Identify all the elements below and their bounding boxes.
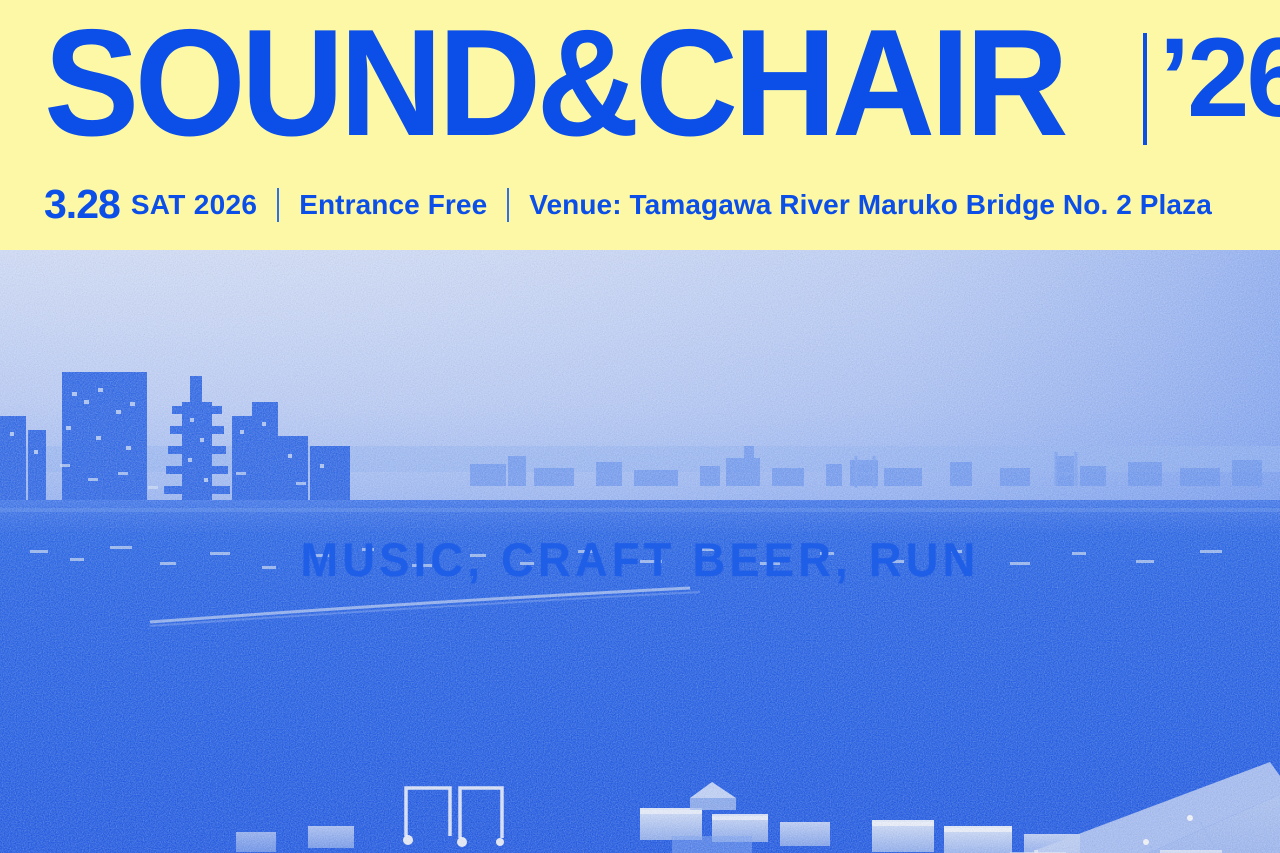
event-date: 3.28 bbox=[44, 184, 120, 225]
header-band: SOUND&CHAIR ’26 3.28 SAT 2026 Entrance F… bbox=[0, 0, 1280, 250]
hero-tagline: MUSIC, CRAFT BEER, RUN bbox=[26, 531, 1255, 589]
info-separator-icon bbox=[277, 188, 279, 222]
event-day-year: SAT 2026 bbox=[131, 191, 257, 219]
page-title: SOUND&CHAIR bbox=[44, 8, 1064, 158]
title-row: SOUND&CHAIR ’26 bbox=[44, 8, 1280, 168]
info-separator-icon bbox=[507, 188, 509, 222]
festival-year: ’26 bbox=[1159, 22, 1280, 134]
venue-label: Venue: Tamagawa River Maruko Bridge No. … bbox=[529, 191, 1212, 219]
hero-photo: MUSIC, CRAFT BEER, RUN bbox=[0, 250, 1280, 853]
vertical-rule-icon bbox=[1143, 33, 1147, 145]
admission-label: Entrance Free bbox=[299, 191, 487, 219]
event-info-row: 3.28 SAT 2026 Entrance Free Venue: Tamag… bbox=[44, 182, 1212, 228]
festival-poster: SOUND&CHAIR ’26 3.28 SAT 2026 Entrance F… bbox=[0, 0, 1280, 853]
